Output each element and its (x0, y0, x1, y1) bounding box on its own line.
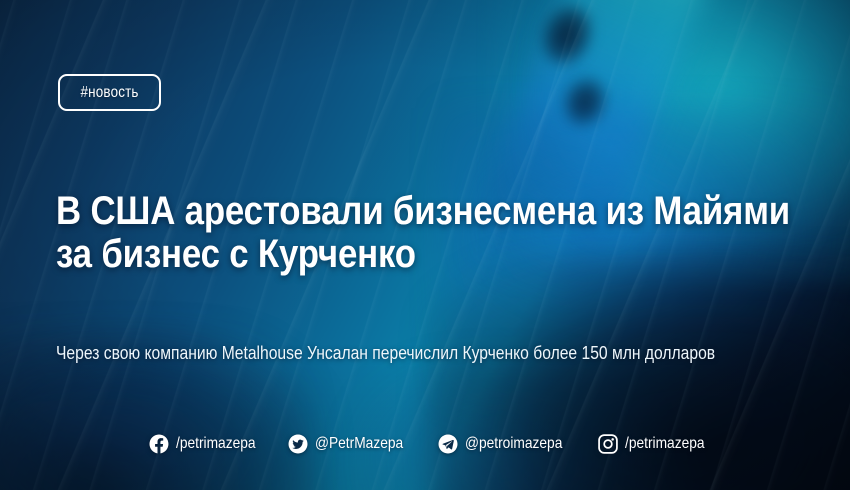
social-link-telegram[interactable]: @petroimazepa (438, 434, 578, 454)
social-bar: /petrimazepa @PetrMazepa @petroimazepa (0, 434, 850, 454)
headline-line-2: за бизнес с Курченко (56, 233, 665, 276)
hashtag-badge-label: #новость (81, 84, 139, 102)
social-link-instagram[interactable]: /petrimazepa (598, 434, 718, 454)
card-content: #новость В США арестовали бизнесмена из … (0, 0, 850, 490)
hashtag-badge[interactable]: #новость (58, 74, 161, 111)
social-label-telegram: @petroimazepa (465, 435, 562, 453)
twitter-icon (288, 434, 308, 454)
instagram-icon (598, 434, 618, 454)
news-social-card: #новость В США арестовали бизнесмена из … (0, 0, 850, 490)
social-label-twitter: @PetrMazepa (315, 435, 403, 453)
social-label-instagram: /petrimazepa (625, 435, 705, 453)
headline: В США арестовали бизнесмена из Майями за… (56, 190, 756, 276)
facebook-icon (149, 434, 169, 454)
telegram-icon (438, 434, 458, 454)
subtitle-text: Через свою компанию Metalhouse Унсалан п… (56, 342, 743, 364)
social-link-facebook[interactable]: /petrimazepa (149, 434, 269, 454)
social-label-facebook: /petrimazepa (176, 435, 256, 453)
subtitle: Через свою компанию Metalhouse Унсалан п… (56, 342, 846, 364)
headline-line-1: В США арестовали бизнесмена из Майями (56, 190, 665, 233)
social-link-twitter[interactable]: @PetrMazepa (288, 434, 418, 454)
